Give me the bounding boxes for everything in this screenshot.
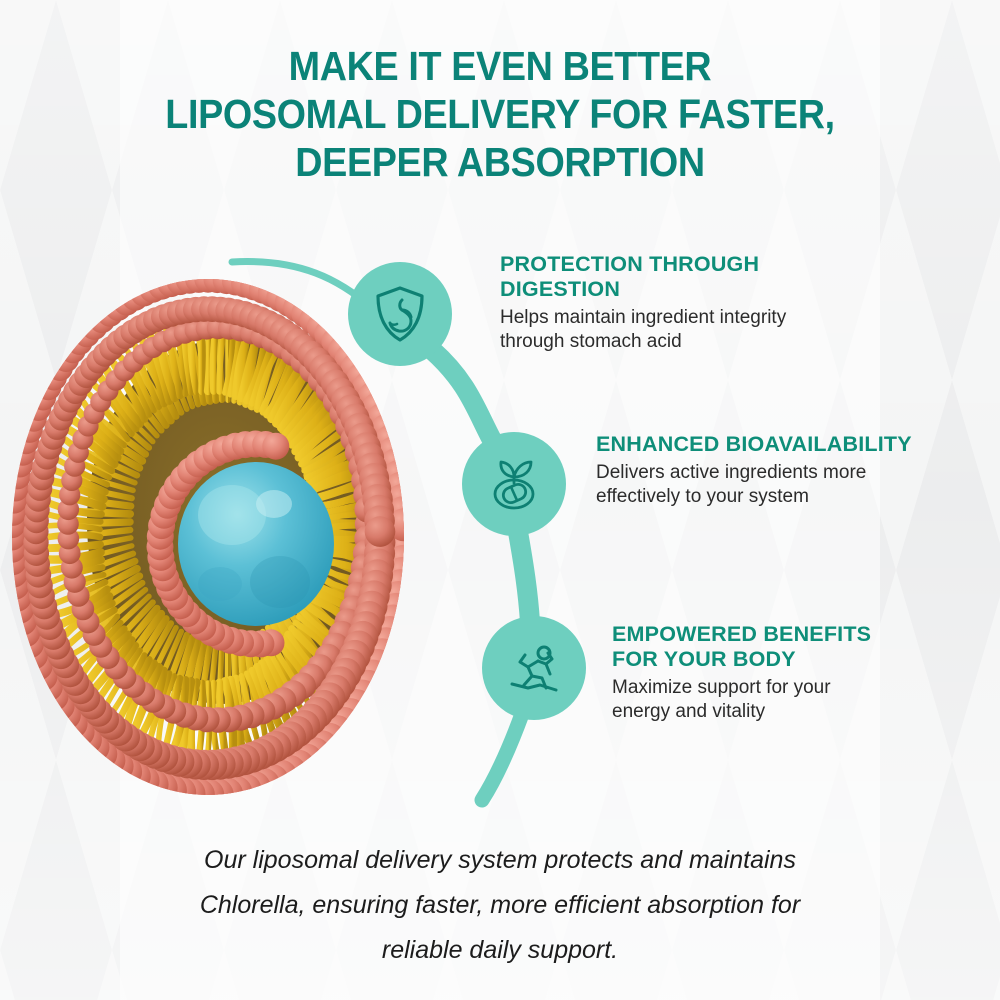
feature-body-line-1: Maximize support for your [612,676,952,700]
feature-body-line-1: Delivers active ingredients more [596,461,976,485]
running-person-icon [502,636,566,700]
page-title: MAKE IT EVEN BETTER LIPOSOMAL DELIVERY F… [60,42,940,186]
feature-body-line-1: Helps maintain ingredient integrity [500,306,930,330]
title-line-1: MAKE IT EVEN BETTER [95,42,905,90]
caption-line-2: Chlorella, ensuring faster, more efficie… [100,883,900,928]
capsule-leaf-icon [483,453,545,515]
feature-heading-line-1: ENHANCED BIOAVAILABILITY [596,432,976,457]
shield-stomach-icon [369,283,431,345]
feature-icon-badge-bioavailability[interactable] [462,432,566,536]
title-line-2: LIPOSOMAL DELIVERY FOR FASTER, [95,90,905,138]
feature-heading-line-2: DIGESTION [500,277,930,302]
feature-body-line-2: effectively to your system [596,485,976,509]
feature-heading-line-1: PROTECTION THROUGH [500,252,930,277]
feature-body-line-2: through stomach acid [500,330,930,354]
feature-text-protection: PROTECTION THROUGH DIGESTION Helps maint… [500,252,930,354]
title-line-3: DEEPER ABSORPTION [95,138,905,186]
caption-line-1: Our liposomal delivery system protects a… [100,838,900,883]
feature-text-bioavailability: ENHANCED BIOAVAILABILITY Delivers active… [596,432,976,509]
infographic-canvas: MAKE IT EVEN BETTER LIPOSOMAL DELIVERY F… [0,0,1000,1000]
caption-line-3: reliable daily support. [100,928,900,973]
feature-body-line-2: energy and vitality [612,700,952,724]
footer-caption: Our liposomal delivery system protects a… [100,838,900,973]
feature-heading-line-1: EMPOWERED BENEFITS [612,622,952,647]
feature-heading-line-2: FOR YOUR BODY [612,647,952,672]
feature-text-empowered: EMPOWERED BENEFITS FOR YOUR BODY Maximiz… [612,622,952,724]
feature-icon-badge-protection[interactable] [348,262,452,366]
encapsulated-core [178,462,334,626]
feature-icon-badge-empowered[interactable] [482,616,586,720]
